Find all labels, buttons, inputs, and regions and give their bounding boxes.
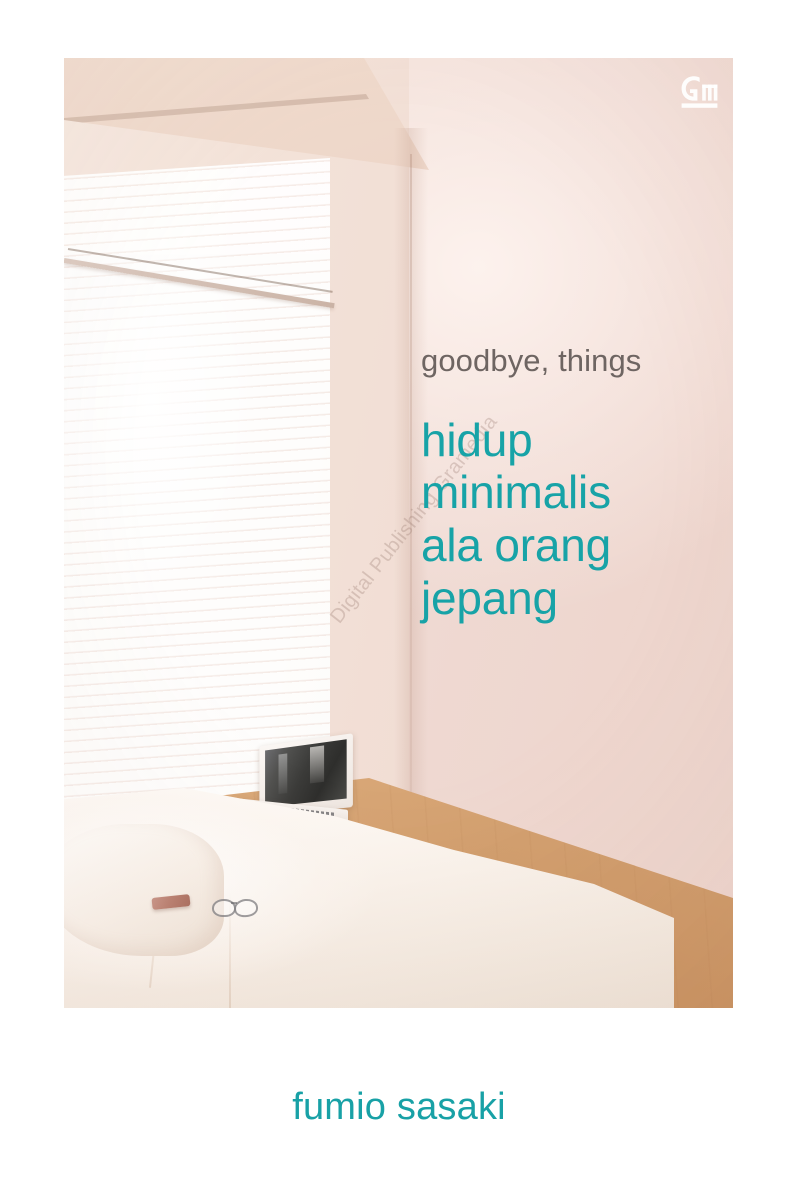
curtain-rod-bar: [64, 258, 335, 308]
title-block: goodbye, things hidup minimalis ala oran…: [421, 345, 721, 625]
curtain-rod: [64, 236, 336, 310]
wall-corner-line: [410, 154, 412, 834]
eyeglasses-lens-right: [233, 898, 259, 918]
title-line-4: jepang: [421, 572, 721, 625]
author-name: fumio sasaki: [0, 1086, 798, 1129]
title-line-3: ala orang: [421, 519, 721, 572]
pillow: [64, 824, 224, 956]
main-title: hidup minimalis ala orang jepang: [421, 414, 721, 626]
title-line-2: minimalis: [421, 466, 721, 519]
minimalist-room-photo: Digital Publishing Gramedia Digital Publ…: [64, 58, 733, 1008]
laptop-screen: [265, 739, 347, 807]
book-cover: Digital Publishing Gramedia Digital Publ…: [0, 0, 798, 1182]
eyeglasses-bridge: [231, 902, 237, 904]
title-line-1: hidup: [421, 414, 721, 467]
original-title: goodbye, things: [421, 345, 721, 378]
gramedia-logo: [677, 72, 723, 112]
eyeglasses: [212, 896, 270, 918]
